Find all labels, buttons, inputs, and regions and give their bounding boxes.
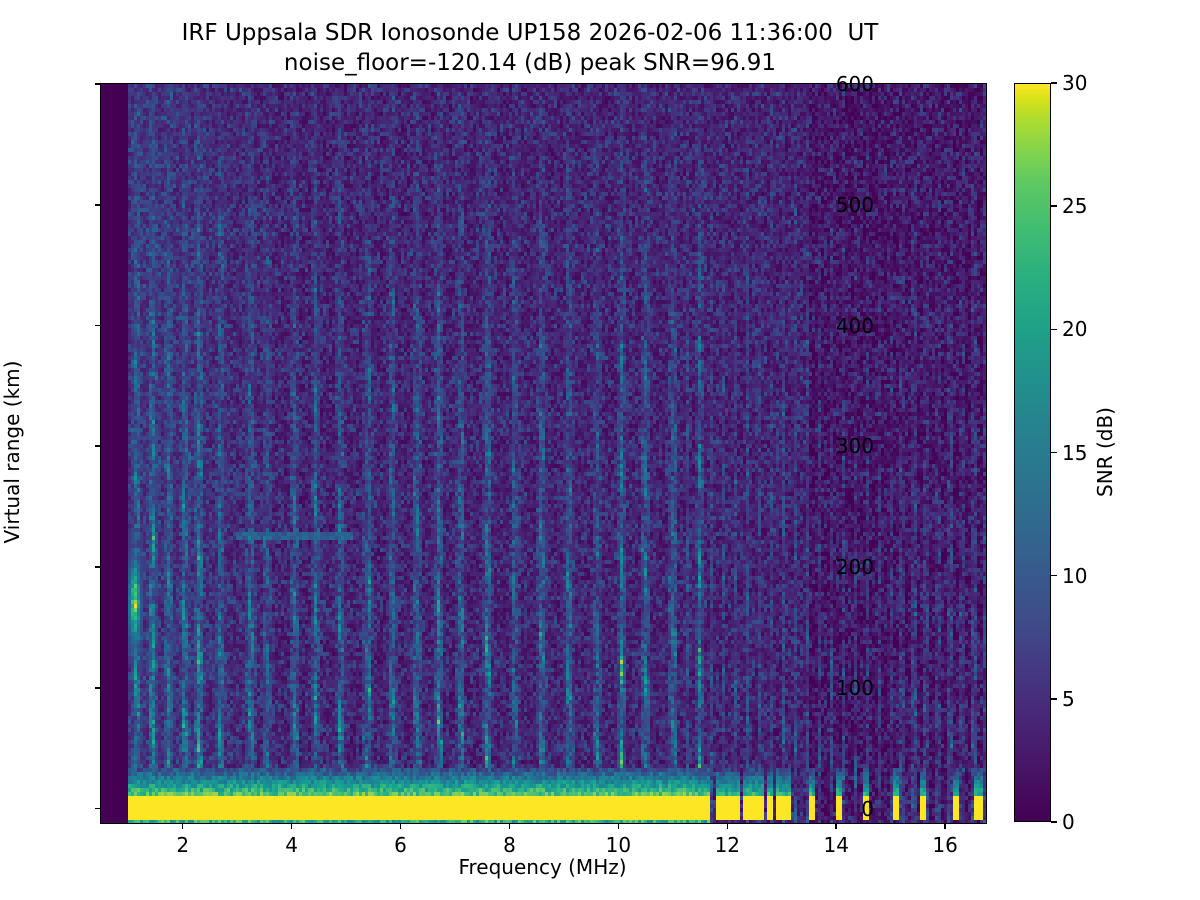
ionogram-plot-area: 0100200300400500600 246810121416 [100,83,987,824]
x-tick-mark [400,823,402,829]
x-tick-mark [291,823,293,829]
colorbar-tick-label: 20 [1062,317,1087,341]
y-tick-label: 200 [836,555,874,579]
y-tick-label: 400 [836,314,874,338]
x-tick-mark [182,823,184,829]
figure-title: IRF Uppsala SDR Ionosonde UP158 2026-02-… [0,18,1060,78]
x-tick-mark [944,823,946,829]
y-tick-mark [95,687,101,689]
x-tick-label: 14 [823,833,848,857]
x-tick-label: 4 [285,833,298,857]
ionogram-figure: IRF Uppsala SDR Ionosonde UP158 2026-02-… [0,0,1200,900]
x-tick-label: 12 [715,833,740,857]
x-tick-label: 16 [932,833,957,857]
y-tick-label: 100 [836,676,874,700]
title-line-2: noise_floor=-120.14 (dB) peak SNR=96.91 [0,48,1060,78]
y-tick-mark [95,83,101,85]
x-tick-mark [727,823,729,829]
y-tick-mark [95,204,101,206]
y-tick-label: 300 [836,434,874,458]
colorbar: 051015202530 [1014,83,1051,822]
colorbar-tick-label: 5 [1062,687,1075,711]
x-tick-label: 2 [176,833,189,857]
colorbar-tick-mark [1051,452,1057,454]
y-tick-mark [95,325,101,327]
title-line-1: IRF Uppsala SDR Ionosonde UP158 2026-02-… [0,18,1060,48]
colorbar-tick-label: 25 [1062,194,1087,218]
x-tick-label: 10 [606,833,631,857]
y-tick-label: 500 [836,193,874,217]
x-tick-mark [835,823,837,829]
colorbar-tick-label: 10 [1062,564,1087,588]
colorbar-tick-label: 0 [1062,810,1075,834]
x-tick-mark [509,823,511,829]
colorbar-tick-mark [1051,205,1057,207]
colorbar-gradient [1014,83,1051,822]
y-axis-label: Virtual range (km) [0,361,24,544]
colorbar-tick-mark [1051,329,1057,331]
y-tick-mark [95,808,101,810]
colorbar-tick-mark [1051,82,1057,84]
y-tick-label: 0 [861,797,874,821]
x-tick-label: 6 [394,833,407,857]
colorbar-tick-label: 15 [1062,441,1087,465]
colorbar-tick-mark [1051,698,1057,700]
x-tick-label: 8 [503,833,516,857]
colorbar-label: SNR (dB) [1093,407,1117,497]
y-tick-mark [95,566,101,568]
y-tick-label: 600 [836,72,874,96]
x-axis-label: Frequency (MHz) [100,855,985,879]
x-tick-mark [618,823,620,829]
colorbar-tick-label: 30 [1062,71,1087,95]
colorbar-tick-mark [1051,575,1057,577]
y-tick-mark [95,445,101,447]
colorbar-tick-mark [1051,821,1057,823]
